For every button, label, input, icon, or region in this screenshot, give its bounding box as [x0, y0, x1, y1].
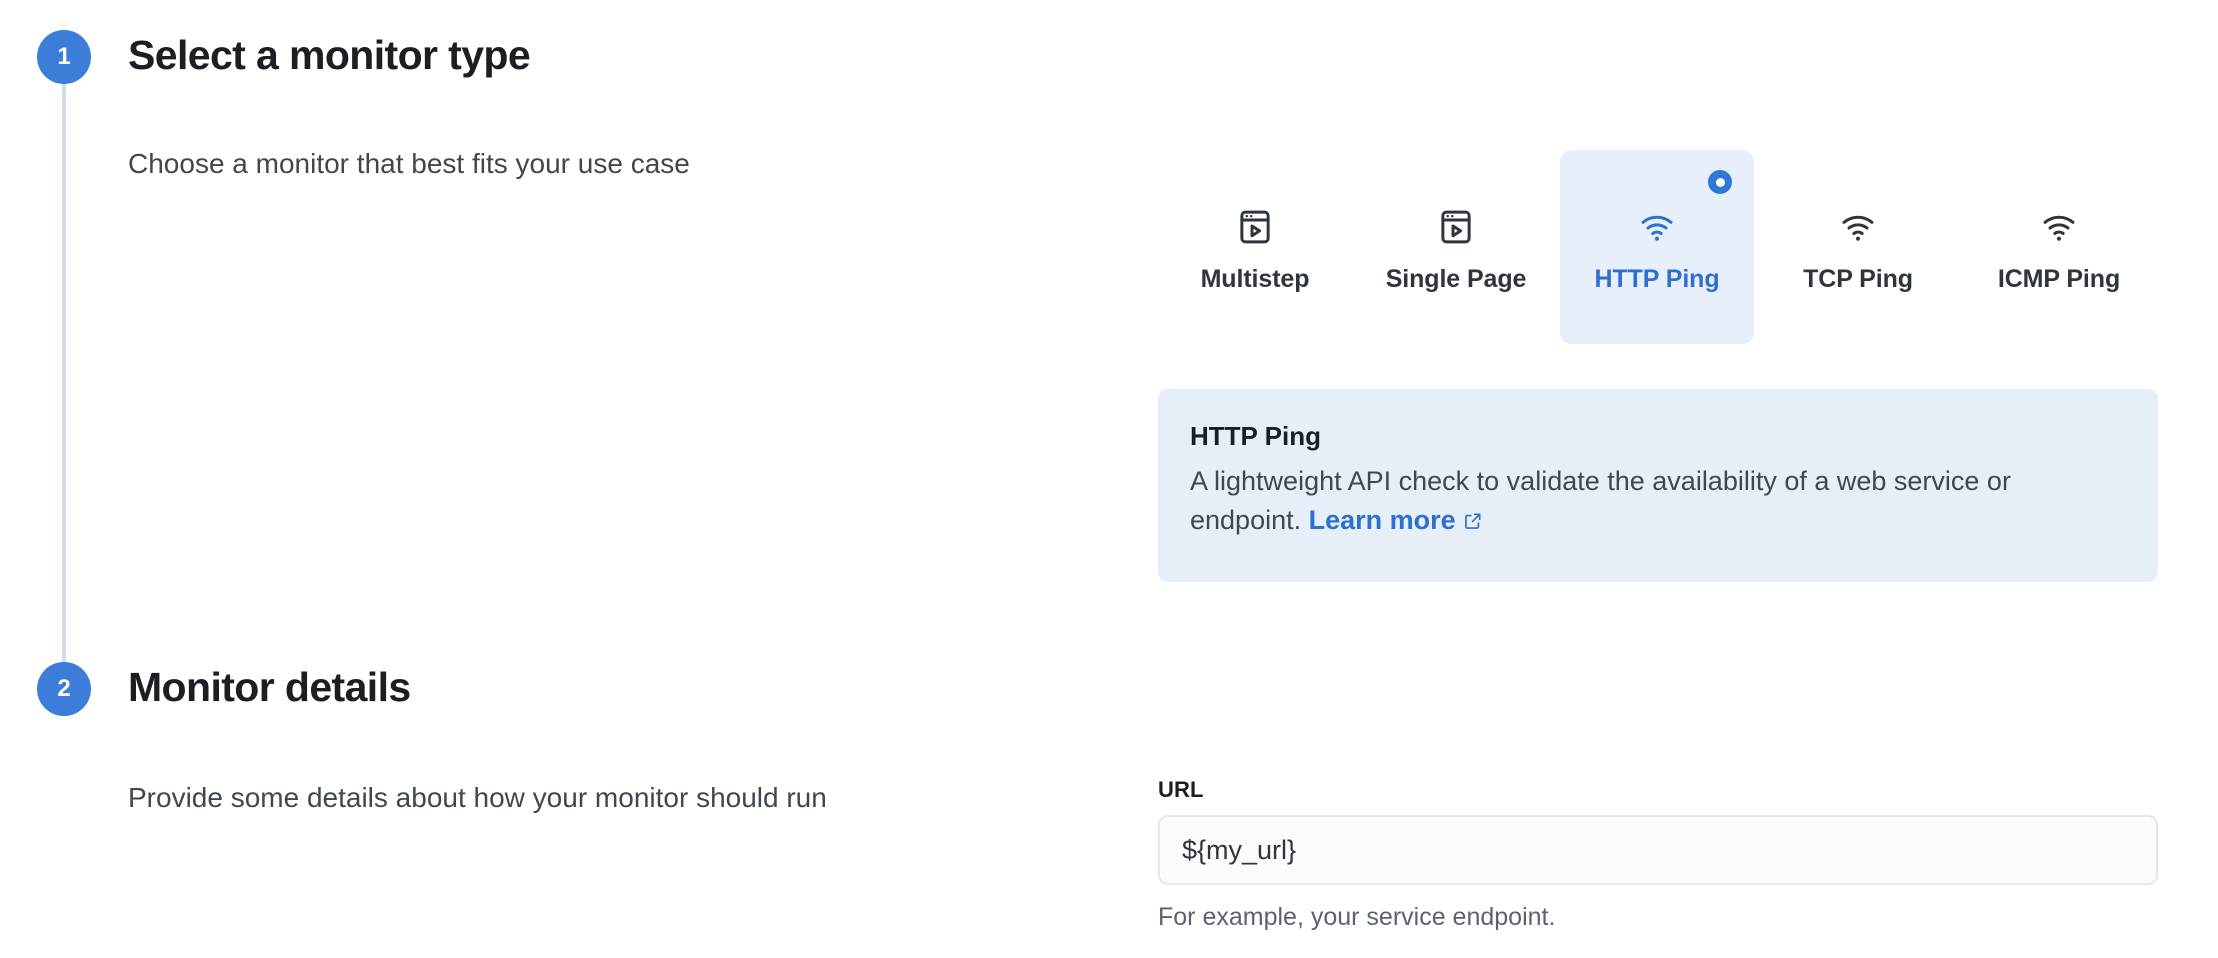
- monitor-setup-wizard: 1 Select a monitor type Choose a monitor…: [0, 0, 2218, 958]
- browser-play-icon: [1435, 206, 1477, 248]
- monitor-type-option-http-ping[interactable]: HTTP Ping: [1560, 150, 1754, 344]
- monitor-type-label: HTTP Ping: [1594, 265, 1719, 294]
- step-2-title: Monitor details: [128, 664, 411, 711]
- step-2-description: Provide some details about how your moni…: [128, 782, 827, 814]
- url-input[interactable]: [1158, 815, 2158, 885]
- monitor-type-option-multistep[interactable]: Multistep: [1158, 150, 1352, 344]
- url-field-label: URL: [1158, 777, 1204, 803]
- info-box-body: A lightweight API check to validate the …: [1190, 462, 2120, 539]
- learn-more-link[interactable]: Learn more: [1309, 505, 1456, 535]
- step-badge-1: 1: [37, 30, 91, 84]
- radio-selected-icon[interactable]: [1708, 170, 1732, 194]
- info-box-title: HTTP Ping: [1190, 421, 2122, 452]
- monitor-type-label: TCP Ping: [1803, 265, 1913, 294]
- monitor-type-label: Multistep: [1201, 265, 1310, 294]
- step-1-title: Select a monitor type: [128, 32, 530, 79]
- monitor-type-label: ICMP Ping: [1998, 265, 2120, 294]
- monitor-type-option-tcp-ping[interactable]: TCP Ping: [1761, 150, 1955, 344]
- monitor-type-info-box: HTTP Ping A lightweight API check to val…: [1158, 389, 2158, 582]
- step-badge-2: 2: [37, 662, 91, 716]
- monitor-type-selector: Multistep Single Page: [1158, 150, 2158, 344]
- monitor-type-label: Single Page: [1386, 265, 1527, 294]
- url-field-hint: For example, your service endpoint.: [1158, 903, 1555, 932]
- browser-play-icon: [1234, 206, 1276, 248]
- wifi-icon: [2038, 206, 2080, 248]
- step-1-description: Choose a monitor that best fits your use…: [128, 148, 690, 180]
- external-link-icon[interactable]: [1463, 503, 1483, 523]
- wifi-icon: [1636, 206, 1678, 248]
- wifi-icon: [1837, 206, 1879, 248]
- stepper-connector-line: [62, 70, 66, 700]
- monitor-type-option-icmp-ping[interactable]: ICMP Ping: [1962, 150, 2156, 344]
- monitor-type-option-single-page[interactable]: Single Page: [1359, 150, 1553, 344]
